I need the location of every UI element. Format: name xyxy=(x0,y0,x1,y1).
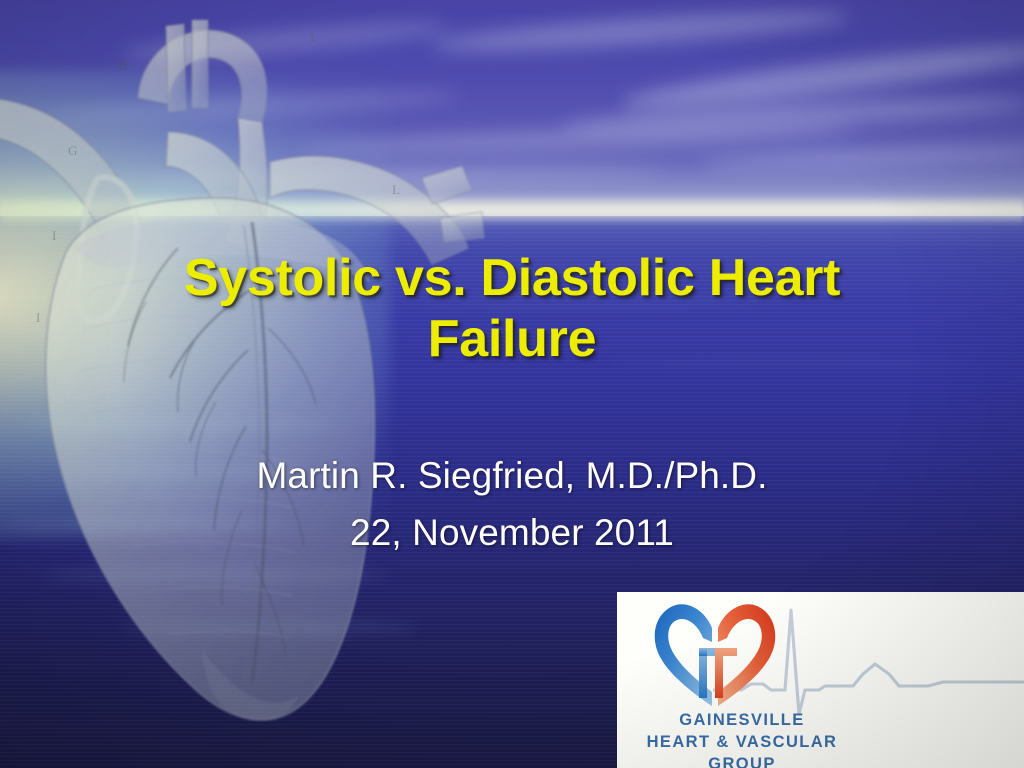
organization-name: GAINESVILLE HEART & VASCULAR GROUP xyxy=(617,710,867,768)
water-shimmer xyxy=(120,624,420,631)
sky-background xyxy=(0,0,1024,216)
logo-text-line-2: HEART & VASCULAR xyxy=(617,732,867,754)
presentation-title-slide: H G L L I I Systolic vs. Diastolic Heart… xyxy=(0,0,1024,768)
water-shimmer xyxy=(380,300,800,306)
water-shimmer xyxy=(20,420,350,429)
logo-text-line-1: GAINESVILLE xyxy=(617,710,867,732)
water-shimmer xyxy=(40,572,390,579)
heart-monogram-icon xyxy=(649,598,781,716)
water-shimmer xyxy=(60,468,320,476)
logo-text-line-3: GROUP xyxy=(617,754,867,768)
organization-logo-panel: GAINESVILLE HEART & VASCULAR GROUP xyxy=(617,592,1024,768)
water-shimmer xyxy=(600,360,980,366)
horizon-glow xyxy=(0,196,1024,226)
water-shimmer xyxy=(0,520,300,528)
